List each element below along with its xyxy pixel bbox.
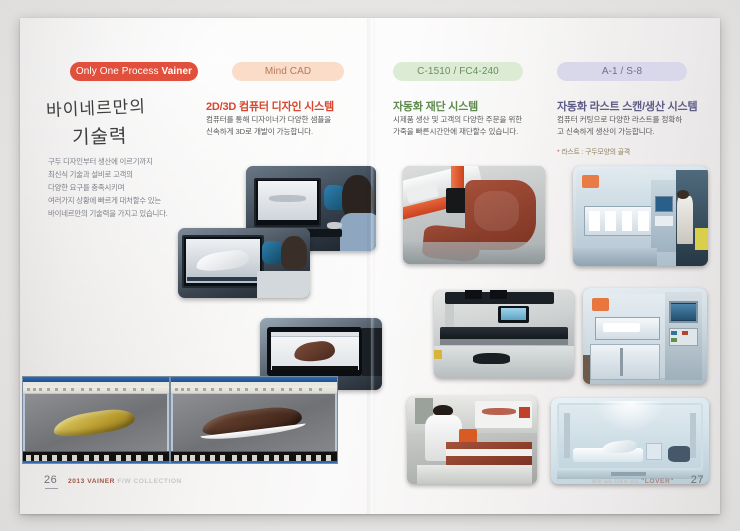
pill-label: A-1 / S-8 <box>602 66 642 77</box>
photo-cad-shoe-last-3d <box>178 228 310 298</box>
body-mind-cad: 컴퓨터를 통해 디자이너가 다양한 샘플을 신속하게 3D로 개발이 가능합니다… <box>206 114 371 138</box>
pill-c1510-fc4240[interactable]: C-1510 / FC4-240 <box>393 62 523 81</box>
pill-mind-cad[interactable]: Mind CAD <box>232 62 344 81</box>
intro-lead-paragraph: 구두 디자인부터 생산에 이르기까지 최신식 기술과 설비로 고객의 다양한 요… <box>48 156 198 221</box>
pill-label: Mind CAD <box>265 66 311 77</box>
pill-label-bold: Vainer <box>162 66 193 77</box>
photo-last-scanner-machine <box>573 166 708 266</box>
brochure-spread: Only One Process Vainer Mind CAD C-1510 … <box>20 18 720 514</box>
handwriting-line-1: 바이네르만의 <box>46 92 147 121</box>
footer-tagline-lead: Be as like as <box>592 478 641 485</box>
pill-only-one-process[interactable]: Only One Process Vainer <box>70 62 198 81</box>
handwriting-block: 바이네르만의 기술력 <box>46 94 186 149</box>
footer-brand: 2013 VAINER <box>68 478 117 485</box>
pill-label: C-1510 / FC4-240 <box>417 66 499 77</box>
body-auto-cutting: 시제품 생산 및 고객의 다양한 주문을 위한 가죽을 빠른시간안에 재단할수 … <box>393 114 568 138</box>
photo-cad-window-brown-shoe <box>170 376 338 464</box>
footer-tagline-lover: "LOVER" <box>641 478 674 485</box>
footnote-text: 라스트 : 구두모양의 골격 <box>561 149 630 156</box>
footnote-star: * <box>557 149 560 156</box>
photo-leather-cutting-head <box>403 166 545 264</box>
page-number-left: 26 <box>44 474 57 486</box>
pill-a1-s8[interactable]: A-1 / S-8 <box>557 62 687 81</box>
footer-left-text: 2013 VAINER F/W COLLECTION <box>68 478 182 485</box>
title-mind-cad: 2D/3D 컴퓨터 디자인 시스템 <box>206 98 334 114</box>
footer-right-text: Be as like as "LOVER" <box>592 478 674 485</box>
photo-cnc-last-machine-closeup <box>551 398 709 484</box>
footnote-last: * 라스트 : 구두모양의 골격 <box>557 146 630 156</box>
photo-cnc-last-machine <box>583 288 707 384</box>
handwriting-line-2: 기술력 <box>72 121 128 150</box>
footer-collection: F/W COLLECTION <box>117 478 181 485</box>
title-auto-cutting: 자동화 재단 시스템 <box>393 98 478 114</box>
body-last-scan: 컴퓨터 커팅으로 다양한 라스트를 정확하 고 신속하게 생산이 가능합니다. <box>557 114 722 138</box>
photo-operator-at-cutting-table <box>407 396 537 484</box>
pill-label-plain: Only One Process <box>76 66 162 77</box>
title-last-scan: 자동화 라스트 스캔/생산 시스템 <box>557 98 697 114</box>
page-number-right: 27 <box>691 474 704 486</box>
photo-cad-window-yellow-shoe <box>22 376 170 464</box>
photo-cutting-machine-wide <box>434 290 574 378</box>
